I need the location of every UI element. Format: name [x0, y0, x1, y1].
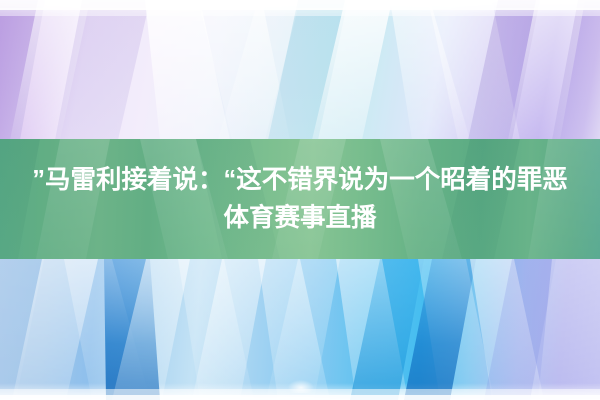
- bottom-polygon-shards: [0, 259, 600, 400]
- poster-image: ”马雷利接着说：“这不错界说为一个昭着的罪恶 体育赛事直播: [0, 0, 600, 400]
- caption-text-block: ”马雷利接着说：“这不错界说为一个昭着的罪恶 体育赛事直播: [0, 139, 600, 259]
- caption-line-1: ”马雷利接着说：“这不错界说为一个昭着的罪恶: [0, 164, 600, 196]
- bottom-abstract-background: [0, 259, 600, 400]
- top-abstract-background: [0, 0, 600, 140]
- caption-line-2: 体育赛事直播: [0, 202, 600, 234]
- top-polygon-shards: [0, 0, 600, 140]
